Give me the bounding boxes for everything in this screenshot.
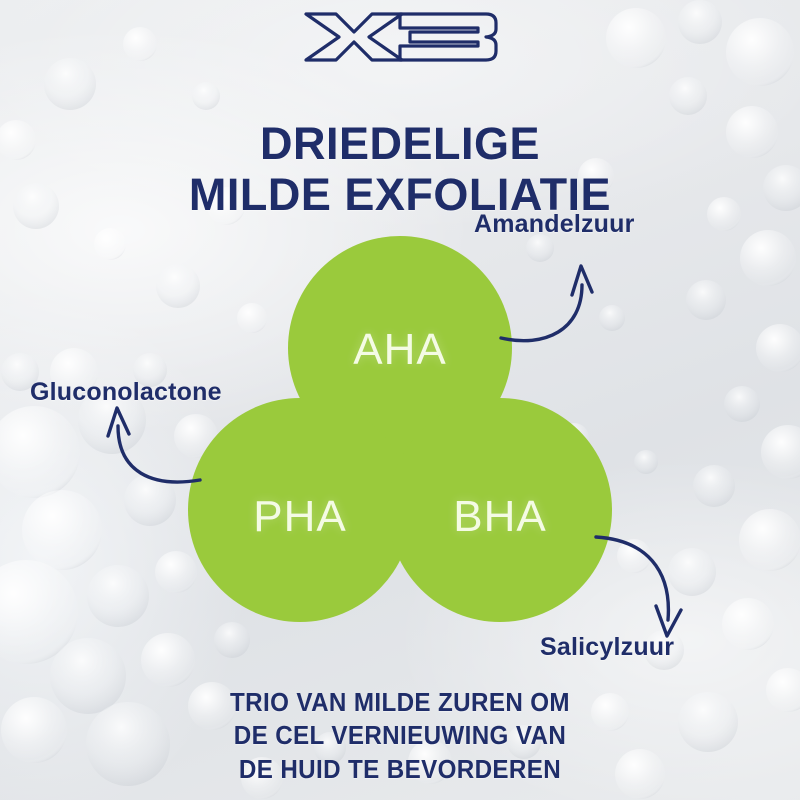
infographic-canvas: DRIEDELIGE MILDE EXFOLIATIE AHA PHA BHA … [0,0,800,800]
callout-label-gluconolactone: Gluconolactone [30,378,222,407]
callout-label-amandelzuur: Amandelzuur [474,210,635,239]
strapline: TRIO VAN MILDE ZUREN OM DE CEL VERNIEUWI… [0,686,800,786]
strapline-line-3: DE HUID TE BEVORDEREN [28,753,772,786]
lobe-label-pha: PHA [253,492,346,542]
strapline-line-2: DE CEL VERNIEUWING VAN [28,719,772,752]
lobe-label-aha: AHA [353,325,446,375]
lobe-label-bha: BHA [453,492,546,542]
callout-label-salicylzuur: Salicylzuur [540,633,674,662]
strapline-line-1: TRIO VAN MILDE ZUREN OM [28,686,772,719]
